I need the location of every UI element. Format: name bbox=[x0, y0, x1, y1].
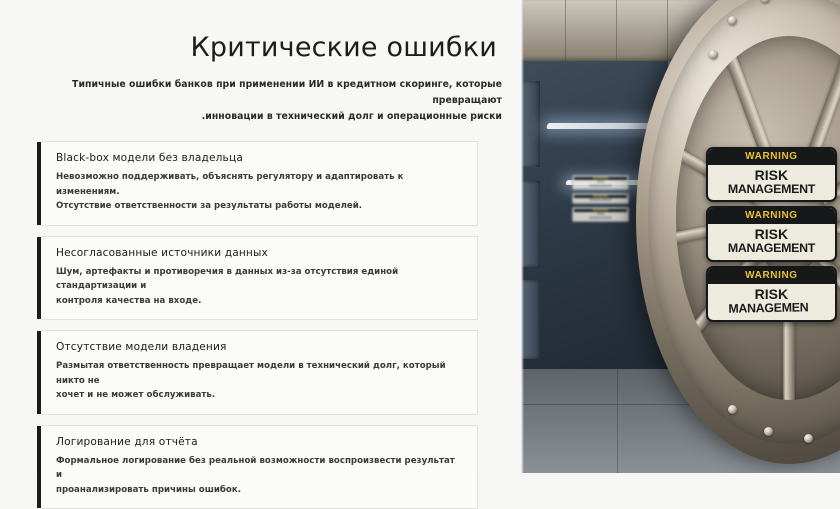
mistake-card-1[interactable]: Black-box модели без владельца Невозможн… bbox=[41, 141, 478, 226]
mistake-card-1-line-2: Отсутствие ответственности за результаты… bbox=[56, 199, 463, 213]
background-sign-1: WARNING RISK MANAGEMENT bbox=[572, 175, 629, 190]
warning-sign-1-management-label: MANAGEMENT bbox=[708, 183, 835, 201]
vault-photo-panel: WARNING RISK MANAGEMENT WARNING MANAGEME… bbox=[521, 0, 840, 473]
background-sign-1-management: MANAGEMENT bbox=[574, 184, 627, 188]
warning-sign-3-risk-label: RISK bbox=[708, 284, 835, 302]
mistake-card-3-title: Отсутствие модели владения bbox=[56, 341, 463, 354]
mistake-card-4-line-1: Формальное логирование без реальной возм… bbox=[56, 454, 463, 483]
warning-sign-2-risk-label: RISK bbox=[708, 224, 835, 242]
mistake-card-4-title: Логирование для отчёта bbox=[56, 436, 463, 449]
warning-sign-3-warning-label: WARNING bbox=[708, 268, 835, 284]
warning-sign-1-risk-label: RISK bbox=[708, 165, 835, 183]
mistake-card-2[interactable]: Несогласованные источники данных Шум, ар… bbox=[41, 236, 478, 321]
warning-sign-1: WARNING RISK MANAGEMENT bbox=[706, 147, 837, 203]
ceiling-light-1 bbox=[546, 123, 656, 129]
mistake-card-2-title: Несогласованные источники данных bbox=[56, 247, 463, 260]
mistake-card-1-body: Невозможно поддерживать, объяснять регул… bbox=[56, 170, 463, 213]
mistake-card-4-line-2: проанализировать причины ошибок. bbox=[56, 483, 463, 497]
mistake-card-1-title: Black-box модели без владельца bbox=[56, 152, 463, 165]
mistake-card-4-body: Формальное логирование без реальной возм… bbox=[56, 454, 463, 497]
mistake-card-3-line-1: Размытая ответственность превращает моде… bbox=[56, 359, 463, 388]
background-sign-2-management: MANAGEMENT bbox=[574, 198, 627, 202]
warning-sign-2-management-label: MANAGEMENT bbox=[708, 242, 835, 260]
warning-sign-3-management-label: MANAGEMEN bbox=[706, 301, 832, 321]
mistake-card-1-line-1: Невозможно поддерживать, объяснять регул… bbox=[56, 170, 463, 199]
background-warning-signs: WARNING RISK MANAGEMENT WARNING MANAGEME… bbox=[572, 175, 629, 225]
subtitle-line-2: .инновации в технический долг и операцио… bbox=[60, 109, 502, 125]
mistake-card-2-line-2: контроля качества на входе. bbox=[56, 294, 463, 308]
slide-subtitle: Типичные ошибки банков при применении ИИ… bbox=[60, 77, 502, 125]
slide-root: Критические ошибки Типичные ошибки банко… bbox=[0, 0, 840, 473]
background-sign-3: WARNING RISK MANAGEMENT bbox=[572, 207, 629, 222]
mistake-card-4[interactable]: Логирование для отчёта Формальное логиро… bbox=[41, 425, 478, 509]
mistake-card-3-line-2: хочет и не может обслуживать. bbox=[56, 388, 463, 402]
mistake-card-2-body: Шум, артефакты и противоречия в данных и… bbox=[56, 265, 463, 308]
mistake-card-list: Black-box модели без владельца Невозможн… bbox=[0, 141, 521, 509]
warning-sign-1-warning-label: WARNING bbox=[708, 149, 835, 165]
subtitle-line-1: Типичные ошибки банков при применении ИИ… bbox=[60, 77, 502, 109]
mistake-card-2-line-1: Шум, артефакты и противоречия в данных и… bbox=[56, 265, 463, 294]
warning-sign-3: WARNING RISK MANAGEMEN bbox=[706, 266, 837, 322]
content-panel: Критические ошибки Типичные ошибки банко… bbox=[0, 0, 521, 473]
mistake-card-3-body: Размытая ответственность превращает моде… bbox=[56, 359, 463, 402]
page-title: Критические ошибки bbox=[0, 0, 521, 63]
background-sign-2: WARNING MANAGEMENT bbox=[572, 193, 629, 204]
vault-photo: WARNING RISK MANAGEMENT WARNING MANAGEME… bbox=[521, 0, 840, 473]
background-sign-3-management: MANAGEMENT bbox=[574, 216, 627, 220]
warning-sign-2-warning-label: WARNING bbox=[708, 208, 835, 224]
photo-left-edge bbox=[521, 0, 524, 473]
warning-sign-2: WARNING RISK MANAGEMENT bbox=[706, 206, 837, 262]
warning-sign-stack: WARNING RISK MANAGEMENT WARNING RISK MAN… bbox=[706, 147, 837, 326]
mistake-card-3[interactable]: Отсутствие модели владения Размытая отве… bbox=[41, 330, 478, 415]
